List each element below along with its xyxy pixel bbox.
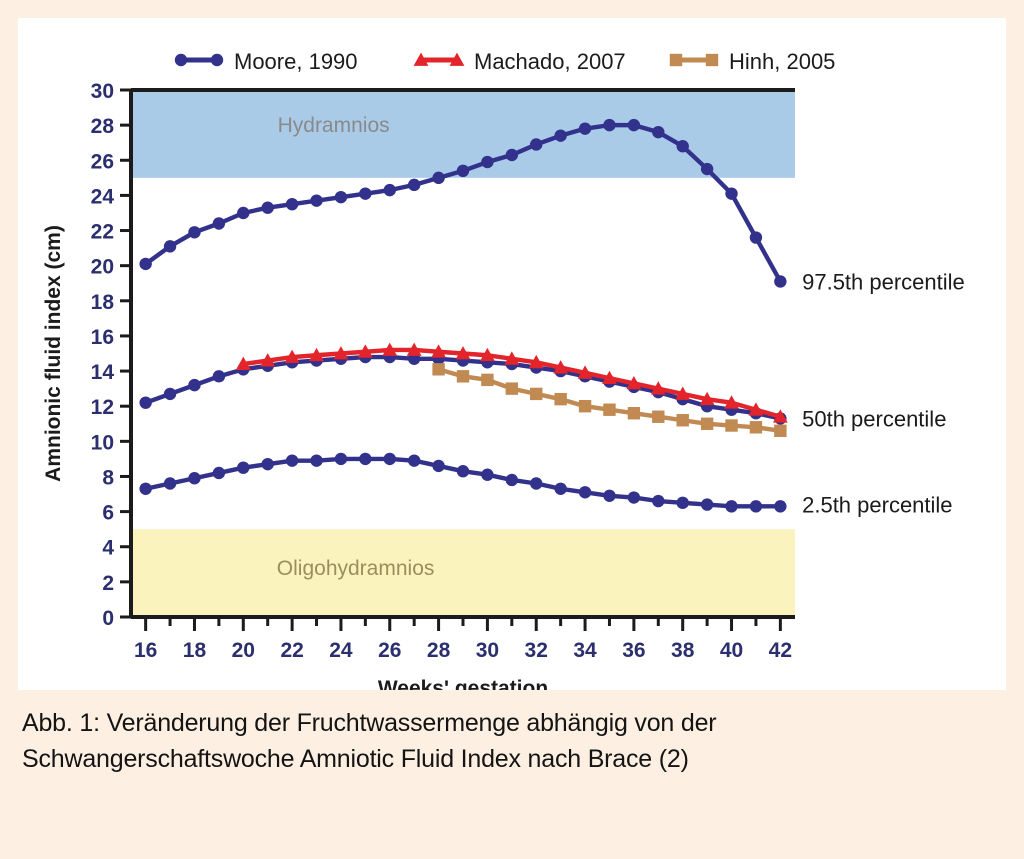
y-tick-label: 8 (102, 466, 114, 489)
legend-item-2[interactable] (414, 53, 465, 66)
data-point-circle (262, 201, 274, 213)
data-point-circle (139, 258, 151, 270)
data-point-square (579, 400, 591, 412)
x-tick-label: 32 (525, 639, 548, 662)
data-point-circle (188, 472, 200, 484)
figure-caption: Abb. 1: Veränderung der Fruchtwassermeng… (22, 706, 922, 777)
data-point-circle (262, 458, 274, 470)
x-tick-label: 18 (183, 639, 207, 662)
data-point-circle (408, 454, 420, 466)
data-point-circle (725, 500, 737, 512)
data-point-circle (628, 119, 640, 131)
band-label-oligohydramnios: Oligohydramnios (277, 557, 435, 580)
data-point-circle (457, 465, 469, 477)
data-point-circle (237, 461, 249, 473)
data-point-circle (384, 184, 396, 196)
x-tick-label: 22 (280, 639, 303, 662)
data-point-circle (530, 138, 542, 150)
y-axis-title: Amnionic fluid index (cm) (42, 225, 65, 482)
data-point-circle (139, 483, 151, 495)
band-oligohydramnios (131, 529, 795, 617)
data-point-circle (579, 486, 591, 498)
legend-item-1[interactable] (175, 54, 223, 66)
data-point-square (530, 388, 542, 400)
data-point-circle (164, 240, 176, 252)
data-point-circle (384, 453, 396, 465)
data-point-circle (652, 495, 664, 507)
data-point-circle (481, 156, 493, 168)
caption-line-2: Schwangerschaftswoche Amniotic Fluid Ind… (22, 742, 922, 778)
y-tick-label: 10 (91, 431, 114, 454)
data-point-circle (188, 226, 200, 238)
data-point-circle (652, 126, 664, 138)
x-tick-label: 24 (329, 639, 353, 662)
y-tick-label: 26 (91, 150, 114, 173)
chart-panel: HydramniosOligohydramnios024681012141618… (18, 18, 1006, 690)
x-tick-label: 30 (476, 639, 499, 662)
x-tick-label: 26 (378, 639, 401, 662)
annotation-2-5th: 2.5th percentile (802, 493, 952, 518)
data-point-circle (628, 491, 640, 503)
y-tick-label: 22 (91, 221, 114, 244)
y-tick-label: 2 (102, 572, 114, 595)
data-point-square (457, 370, 469, 382)
data-point-square (481, 374, 493, 386)
data-point-square (701, 418, 713, 430)
data-point-circle (506, 474, 518, 486)
data-point-circle (310, 454, 322, 466)
data-point-circle (554, 129, 566, 141)
legend-label-2: Machado, 2007 (474, 49, 626, 74)
data-point-circle (408, 179, 420, 191)
y-tick-label: 20 (91, 256, 114, 279)
data-point-circle (530, 477, 542, 489)
x-tick-label: 40 (720, 639, 743, 662)
y-tick-label: 14 (91, 361, 115, 384)
data-point-square (506, 382, 518, 394)
data-point-square (774, 425, 786, 437)
figure-page: HydramniosOligohydramnios024681012141618… (0, 0, 1024, 859)
band-label-hydramnios: Hydramnios (278, 114, 390, 137)
data-point-square (603, 404, 615, 416)
data-point-circle (677, 497, 689, 509)
series-2 (139, 351, 786, 425)
data-point-circle (310, 194, 322, 206)
data-point-square (725, 419, 737, 431)
x-tick-label: 42 (769, 639, 792, 662)
x-axis-title: Weeks' gestation (378, 677, 548, 690)
data-point-circle (750, 231, 762, 243)
series-3 (139, 453, 786, 513)
caption-line-1: Abb. 1: Veränderung der Fruchtwassermeng… (22, 706, 922, 742)
data-point-square (432, 363, 444, 375)
data-point-circle (701, 498, 713, 510)
data-point-square (677, 414, 689, 426)
x-tick-label: 16 (134, 639, 157, 662)
data-point-circle (335, 191, 347, 203)
data-point-circle (164, 477, 176, 489)
data-point-circle (359, 187, 371, 199)
data-point-circle (481, 469, 493, 481)
data-point-circle (774, 500, 786, 512)
data-point-square (670, 54, 682, 66)
data-point-circle (603, 490, 615, 502)
data-point-circle (554, 483, 566, 495)
data-point-square (750, 421, 762, 433)
data-point-circle (213, 217, 225, 229)
data-point-square (652, 411, 664, 423)
data-point-circle (164, 388, 176, 400)
y-tick-label: 24 (91, 185, 115, 208)
data-point-circle (286, 454, 298, 466)
data-point-circle (432, 460, 444, 472)
x-tick-label: 34 (573, 639, 597, 662)
annotation-50th: 50th percentile (802, 406, 946, 431)
data-point-circle (725, 187, 737, 199)
amniotic-fluid-index-chart: HydramniosOligohydramnios024681012141618… (18, 18, 1006, 690)
data-point-circle (432, 172, 444, 184)
data-point-circle (579, 122, 591, 134)
data-point-circle (139, 396, 151, 408)
y-tick-label: 12 (91, 396, 114, 419)
data-point-circle (175, 54, 187, 66)
data-point-circle (774, 275, 786, 287)
data-point-square (706, 54, 718, 66)
data-point-circle (188, 379, 200, 391)
data-point-circle (603, 119, 615, 131)
x-tick-label: 20 (232, 639, 255, 662)
x-tick-label: 36 (622, 639, 645, 662)
data-point-circle (335, 453, 347, 465)
y-tick-label: 28 (91, 115, 115, 138)
data-point-circle (213, 370, 225, 382)
y-tick-label: 18 (91, 291, 115, 314)
annotation-97-5th: 97.5th percentile (802, 269, 965, 294)
y-tick-label: 16 (91, 326, 114, 349)
data-point-circle (213, 467, 225, 479)
data-point-circle (359, 453, 371, 465)
y-tick-label: 4 (102, 537, 114, 560)
data-point-circle (237, 207, 249, 219)
data-point-square (554, 393, 566, 405)
data-point-circle (286, 198, 298, 210)
data-point-circle (677, 140, 689, 152)
y-tick-label: 6 (102, 502, 114, 525)
data-point-circle (211, 54, 223, 66)
data-point-circle (701, 163, 713, 175)
y-tick-label: 30 (91, 80, 114, 103)
legend-item-3[interactable] (670, 54, 718, 66)
legend-label-3: Hinh, 2005 (729, 49, 835, 74)
y-tick-label: 0 (102, 607, 114, 630)
data-point-circle (750, 500, 762, 512)
legend-label-1: Moore, 1990 (234, 49, 358, 74)
data-point-circle (457, 165, 469, 177)
x-tick-label: 38 (671, 639, 695, 662)
x-tick-label: 28 (427, 639, 451, 662)
data-point-square (628, 407, 640, 419)
data-point-circle (506, 149, 518, 161)
